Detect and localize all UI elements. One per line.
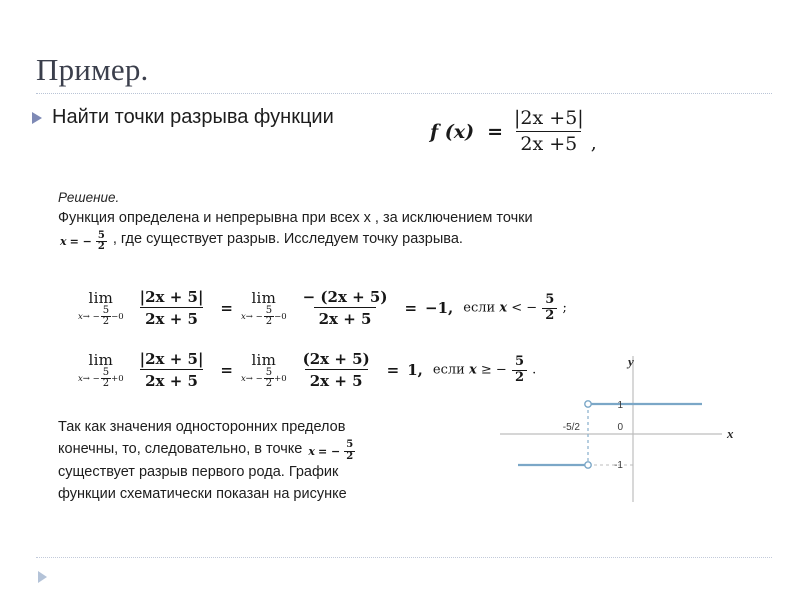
limit-equals-1: = bbox=[220, 299, 233, 317]
limit-condition-var: x bbox=[499, 301, 507, 316]
triangle-bullet-icon bbox=[32, 112, 42, 124]
limit-equations: lim x→ − 5 2 −0 |2x + 5| 2x + 5 = lim x bbox=[78, 288, 567, 412]
tick-label-discontinuity: -5/2 bbox=[563, 422, 581, 433]
bullet-item: Найти точки разрыва функции bbox=[32, 104, 362, 131]
bullet-item-label: Найти точки разрыва функции bbox=[52, 104, 334, 131]
limit-equals-2: = bbox=[387, 361, 400, 379]
inline-math-numerator: 5 bbox=[96, 231, 107, 242]
limit-sub2-arrow: x→ − bbox=[241, 374, 263, 384]
formula-trailing-comma: , bbox=[591, 132, 597, 156]
limit-frac2-numerator: (2x + 5) bbox=[298, 350, 375, 369]
limit-sub-fraction: 5 2 bbox=[101, 306, 111, 328]
conclusion-part-2: существует разрыв первого рода. График ф… bbox=[58, 464, 347, 502]
slide-canvas: Пример. Найти точки разрыва функции f (x… bbox=[0, 0, 800, 600]
limit-fraction-2: (2x + 5) 2x + 5 bbox=[298, 350, 375, 390]
limit-sub-side: −0 bbox=[111, 312, 124, 322]
formula-numerator: |2x +5| bbox=[510, 108, 588, 131]
main-formula: f (x) = |2x +5| 2x +5 , bbox=[430, 108, 597, 156]
limit-subscript: x→ − 5 2 −0 bbox=[78, 306, 124, 328]
limit-condition-denominator: 2 bbox=[542, 308, 557, 323]
limit-sub2-denominator: 2 bbox=[264, 316, 274, 328]
solution-label: Решение. bbox=[58, 188, 578, 208]
formula-denominator: 2x +5 bbox=[516, 131, 581, 156]
limit-subscript: x→ − 5 2 +0 bbox=[78, 368, 124, 390]
limit-subscript-2: x→ − 5 2 −0 bbox=[241, 306, 287, 328]
x-axis-label: x bbox=[726, 426, 734, 441]
limit-sub2-fraction: 5 2 bbox=[264, 306, 274, 328]
limit-sub-fraction: 5 2 bbox=[101, 368, 111, 390]
limit-condition-relation: < − bbox=[511, 301, 537, 316]
bottom-divider bbox=[36, 557, 772, 558]
inline-math-eq: = − bbox=[318, 441, 340, 463]
limit-frac2-denominator: 2x + 5 bbox=[314, 307, 377, 328]
limit-sub2-arrow: x→ − bbox=[241, 312, 263, 322]
limit-condition: если x < − 5 2 ; bbox=[463, 293, 567, 323]
formula-fraction: |2x +5| 2x +5 bbox=[510, 108, 588, 156]
limit-sub2-side: +0 bbox=[274, 374, 287, 384]
inline-math-eq: = − bbox=[70, 231, 92, 252]
limit-condition-fraction: 5 2 bbox=[542, 293, 557, 323]
limit-word-2: lim bbox=[251, 289, 276, 307]
title-divider bbox=[36, 93, 772, 94]
limit-sub-arrow: x→ − bbox=[78, 312, 100, 322]
limit-operator-left: lim x→ − 5 2 +0 bbox=[78, 351, 124, 390]
limit-sub2-fraction: 5 2 bbox=[264, 368, 274, 390]
tick-label-zero: 0 bbox=[617, 422, 623, 433]
solution-line-2-before: точки bbox=[496, 210, 532, 226]
solution-line-1: Функция определена и непрерывна при всех… bbox=[58, 210, 492, 226]
inline-math-fraction: 5 2 bbox=[344, 440, 355, 462]
limit-equals-2: = bbox=[404, 299, 417, 317]
conclusion-part-1: Так как значения односторонних пределов … bbox=[58, 419, 345, 457]
inline-math-var: x bbox=[308, 441, 315, 463]
limit-sub2-numerator: 5 bbox=[264, 368, 274, 379]
limit-condition-numerator: 5 bbox=[542, 293, 557, 307]
conclusion-paragraph: Так как значения односторонних пределов … bbox=[58, 417, 358, 505]
open-circle-lower bbox=[585, 462, 591, 468]
limit-frac1-denominator: 2x + 5 bbox=[140, 307, 203, 328]
limit-fraction-2: − (2x + 5) 2x + 5 bbox=[298, 288, 393, 328]
limit-value: 1, bbox=[407, 361, 423, 379]
tick-label-minus-one: -1 bbox=[614, 460, 623, 471]
bottom-triangle-bullet-icon bbox=[38, 571, 47, 583]
solution-line-2-after: , где существует разрыв. Исследуем точку… bbox=[113, 231, 463, 247]
limit-word: lim bbox=[88, 351, 113, 369]
limit-sub-arrow: x→ − bbox=[78, 374, 100, 384]
formula-lhs: f (x) bbox=[430, 121, 474, 143]
limit-fraction-1: |2x + 5| 2x + 5 bbox=[135, 350, 209, 390]
limit-sub2-side: −0 bbox=[274, 312, 287, 322]
y-axis-label: y bbox=[626, 354, 634, 369]
limit-frac2-denominator: 2x + 5 bbox=[305, 369, 368, 390]
limit-condition-var: x bbox=[469, 363, 477, 378]
function-graph: y x 1 0 -1 -5/2 bbox=[500, 352, 790, 502]
limit-equals-1: = bbox=[220, 361, 233, 379]
formula-equals: = bbox=[487, 121, 503, 143]
limit-word-2: lim bbox=[251, 351, 276, 369]
limit-fraction-1: |2x + 5| 2x + 5 bbox=[135, 288, 209, 328]
solution-paragraph: Функция определена и непрерывна при всех… bbox=[58, 208, 578, 253]
limit-frac1-numerator: |2x + 5| bbox=[135, 350, 209, 369]
limit-value: −1, bbox=[425, 299, 453, 317]
limit-condition-word: если bbox=[463, 301, 495, 316]
tick-label-one: 1 bbox=[617, 400, 623, 411]
limit-sub-numerator: 5 bbox=[101, 368, 111, 379]
limit-operator-right: lim x→ − 5 2 +0 bbox=[241, 351, 287, 390]
limit-frac1-numerator: |2x + 5| bbox=[135, 288, 209, 307]
limit-subscript-2: x→ − 5 2 +0 bbox=[241, 368, 287, 390]
limit-operator-left: lim x→ − 5 2 −0 bbox=[78, 289, 124, 328]
inline-math-numerator: 5 bbox=[344, 440, 355, 451]
inline-math-denominator: 2 bbox=[96, 241, 107, 253]
limit-sub2-numerator: 5 bbox=[264, 306, 274, 317]
inline-math-var: x bbox=[60, 231, 67, 252]
inline-math-conclusion: x = − 5 2 bbox=[308, 440, 355, 462]
limit-equation-row: lim x→ − 5 2 −0 |2x + 5| 2x + 5 = lim x bbox=[78, 288, 567, 328]
limit-word: lim bbox=[88, 289, 113, 307]
inline-math-denominator: 2 bbox=[344, 451, 355, 463]
inline-math-fraction: 5 2 bbox=[96, 231, 107, 253]
page-title: Пример. bbox=[36, 52, 149, 88]
limit-sub-denominator: 2 bbox=[101, 378, 111, 390]
limit-frac1-denominator: 2x + 5 bbox=[140, 369, 203, 390]
limit-sub-side: +0 bbox=[111, 374, 124, 384]
limit-sub2-denominator: 2 bbox=[264, 378, 274, 390]
limit-frac2-numerator: − (2x + 5) bbox=[298, 288, 393, 307]
limit-sub-numerator: 5 bbox=[101, 306, 111, 317]
open-circle-upper bbox=[585, 401, 591, 407]
limit-equation-row: lim x→ − 5 2 +0 |2x + 5| 2x + 5 = lim x bbox=[78, 350, 567, 390]
graph-svg: y x 1 0 -1 -5/2 bbox=[500, 352, 790, 502]
limit-sub-denominator: 2 bbox=[101, 316, 111, 328]
limit-operator-right: lim x→ − 5 2 −0 bbox=[241, 289, 287, 328]
solution-block: Решение. Функция определена и непрерывна… bbox=[58, 188, 578, 253]
inline-math-solution: x = − 5 2 bbox=[60, 231, 107, 253]
limit-condition-end: ; bbox=[562, 301, 566, 316]
limit-condition-word: если bbox=[433, 363, 465, 378]
